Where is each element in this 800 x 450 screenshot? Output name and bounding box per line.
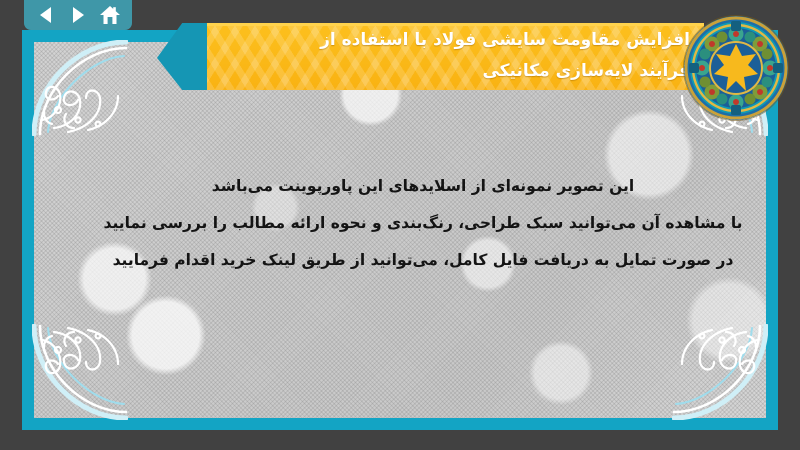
slide-frame: این تصویر نمونه‌ای از اسلایدهای این پاور…: [22, 30, 778, 430]
back-triangle-icon[interactable]: [35, 4, 57, 26]
title-line: فرآیند لایه‌سازی مکانیکی: [220, 56, 690, 87]
slide-body-text: این تصویر نمونه‌ای از اسلایدهای این پاور…: [62, 168, 778, 279]
title-line: افزایش مقاومت سایشی فولاد با استفاده از: [220, 25, 690, 56]
body-line: با مشاهده آن می‌توانید سبک طراحی، رنگ‌بن…: [62, 205, 778, 242]
home-icon[interactable]: [99, 4, 121, 26]
page-title: افزایش مقاومت سایشی فولاد با استفاده از …: [220, 25, 690, 87]
body-line: در صورت تمایل به دریافت فایل کامل، می‌تو…: [62, 242, 778, 279]
navigation-bar: [24, 0, 132, 30]
forward-triangle-icon[interactable]: [67, 4, 89, 26]
slide-title-banner: افزایش مقاومت سایشی فولاد با استفاده از …: [207, 23, 704, 90]
slide-viewer: این تصویر نمونه‌ای از اسلایدهای این پاور…: [0, 0, 800, 450]
body-line: این تصویر نمونه‌ای از اسلایدهای این پاور…: [62, 168, 778, 205]
persian-medallion-ornament: [684, 16, 788, 120]
